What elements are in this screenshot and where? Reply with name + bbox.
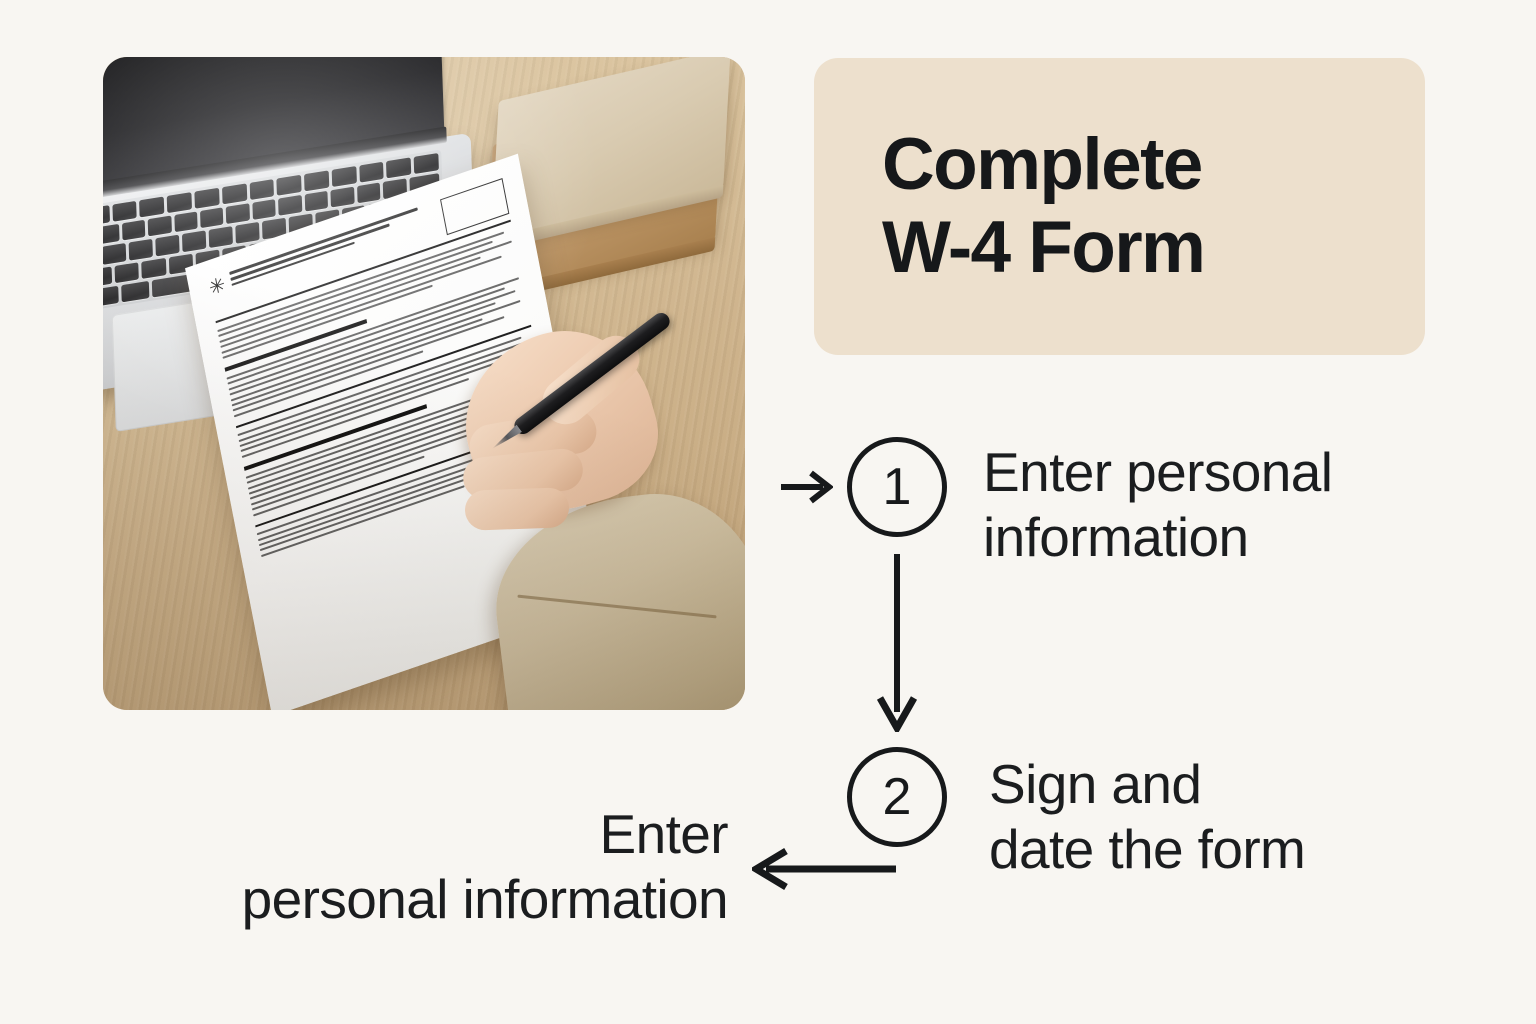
arrow-step-1-to-step-2-icon	[872, 552, 922, 732]
step-1-number: 1	[883, 461, 912, 513]
outcome-label: Enter personal information	[128, 802, 728, 932]
desk-with-w4-form-photo: ✳	[103, 57, 745, 710]
arrow-step-2-to-outcome-icon	[752, 845, 900, 893]
step-2-number: 2	[883, 771, 912, 823]
step-2-badge: 2	[847, 747, 947, 847]
step-1-label: Enter personal information	[983, 440, 1332, 570]
step-1-badge: 1	[847, 437, 947, 537]
page-title: Complete W-4 Form	[814, 124, 1204, 289]
step-2-label: Sign and date the form	[989, 752, 1305, 882]
infographic-canvas: ✳	[0, 0, 1536, 1024]
photo-vignette	[103, 57, 745, 710]
title-card: Complete W-4 Form	[814, 58, 1425, 355]
arrow-into-step-1-icon	[779, 465, 833, 509]
